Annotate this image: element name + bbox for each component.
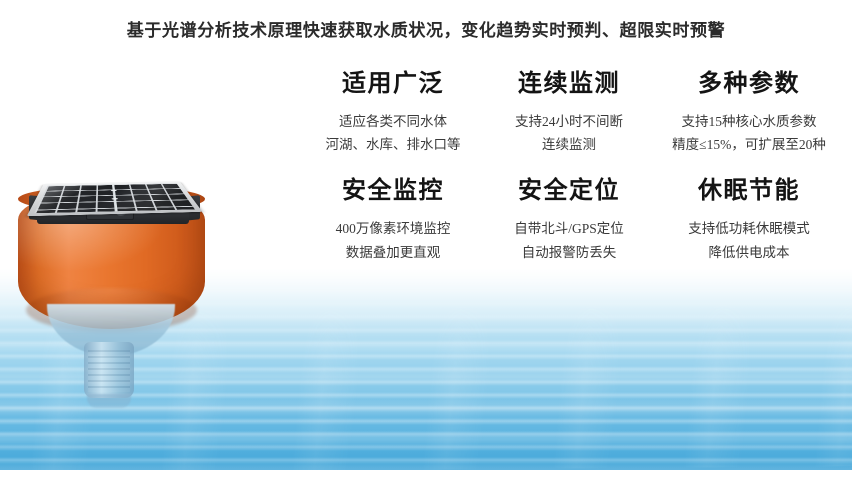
- feature-title: 多种参数: [655, 72, 843, 96]
- sensor-probe-tip: [87, 394, 131, 408]
- feature-row-2: 安全监控 400万像素环境监控 数据叠加更直观 安全定位 自带北斗/GPS定位 …: [303, 179, 843, 263]
- sensor-probe-stem: [84, 342, 134, 398]
- feature-line: 支持15种核心水质参数: [655, 110, 843, 133]
- feature-line: 精度≤15%，可扩展至20种: [655, 133, 843, 156]
- solar-panel-frame: [27, 182, 203, 217]
- feature-line: 自带北斗/GPS定位: [483, 217, 655, 240]
- feature-title: 连续监测: [483, 72, 655, 96]
- solar-panel-marker-top: [110, 190, 116, 191]
- page-title: 基于光谱分析技术原理快速获取水质状况，变化趋势实时预判、超限实时预警: [0, 16, 852, 41]
- feature-item-continuous-monitoring: 连续监测 支持24小时不间断 连续监测: [483, 72, 655, 156]
- feature-line: 连续监测: [483, 133, 655, 156]
- feature-line: 河湖、水库、排水口等: [303, 133, 483, 156]
- feature-title: 休眠节能: [655, 179, 843, 203]
- feature-line: 适应各类不同水体: [303, 110, 483, 133]
- feature-title: 安全定位: [483, 179, 655, 203]
- feature-line: 支持24小时不间断: [483, 110, 655, 133]
- feature-line: 自动报警防丢失: [483, 241, 655, 264]
- feature-row-1: 适用广泛 适应各类不同水体 河湖、水库、排水口等 连续监测 支持24小时不间断 …: [303, 72, 843, 156]
- buoy-device-image: [6, 128, 226, 368]
- bottom-white-strip: [0, 470, 852, 479]
- promo-slide: 基于光谱分析技术原理快速获取水质状况，变化趋势实时预判、超限实时预警: [0, 0, 852, 479]
- feature-item-power-saving: 休眠节能 支持低功耗休眠模式 降低供电成本: [655, 179, 843, 263]
- feature-item-security-surveillance: 安全监控 400万像素环境监控 数据叠加更直观: [303, 179, 483, 263]
- feature-item-applicability: 适用广泛 适应各类不同水体 河湖、水库、排水口等: [303, 72, 483, 156]
- feature-line: 降低供电成本: [655, 241, 843, 264]
- feature-line: 支持低功耗休眠模式: [655, 217, 843, 240]
- solar-panel-marker-bottom: [111, 198, 117, 199]
- feature-grid: 适用广泛 适应各类不同水体 河湖、水库、排水口等 连续监测 支持24小时不间断 …: [303, 72, 843, 264]
- solar-panel: [27, 182, 203, 217]
- feature-title: 适用广泛: [303, 72, 483, 96]
- feature-line: 数据叠加更直观: [303, 241, 483, 264]
- feature-line: 400万像素环境监控: [303, 217, 483, 240]
- feature-item-multi-parameter: 多种参数 支持15种核心水质参数 精度≤15%，可扩展至20种: [655, 72, 843, 156]
- feature-title: 安全监控: [303, 179, 483, 203]
- feature-item-positioning: 安全定位 自带北斗/GPS定位 自动报警防丢失: [483, 179, 655, 263]
